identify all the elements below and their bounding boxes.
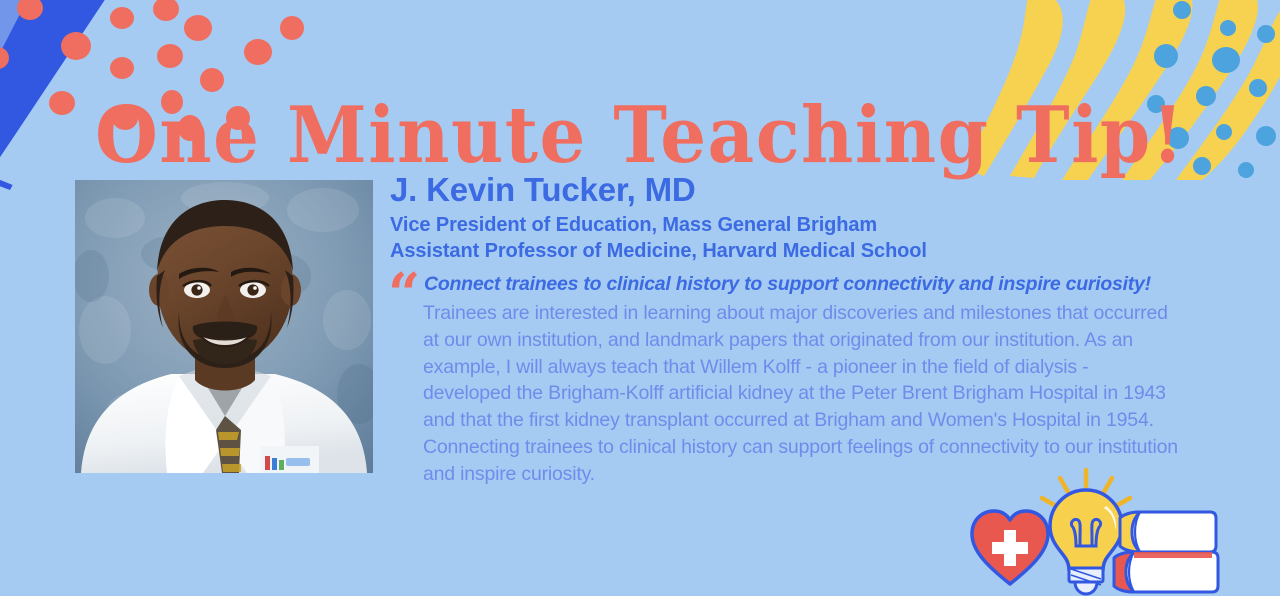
icon-cluster — [962, 468, 1222, 596]
quote-body: Trainees are interested in learning abou… — [423, 300, 1178, 488]
open-quote-icon: “ — [388, 266, 420, 322]
teaching-tip-poster: One Minute Teaching Tip! — [0, 0, 1280, 596]
stacked-books-icon — [1110, 502, 1222, 594]
quote-block: “ Connect trainees to clinical history t… — [388, 272, 1178, 488]
speaker-role-2: Assistant Professor of Medicine, Harvard… — [390, 239, 1190, 265]
quote-headline: Connect trainees to clinical history to … — [424, 272, 1178, 298]
speaker-info: J. Kevin Tucker, MD Vice President of Ed… — [390, 172, 1190, 264]
speaker-role-1: Vice President of Education, Mass Genera… — [390, 213, 1190, 239]
speaker-name: J. Kevin Tucker, MD — [390, 172, 1190, 209]
speaker-roles: Vice President of Education, Mass Genera… — [390, 213, 1190, 264]
speaker-photo — [75, 180, 373, 473]
page-title: One Minute Teaching Tip! — [95, 96, 1185, 174]
quote-body-text: Trainees are interested in learning abou… — [423, 300, 1178, 488]
speaker-photo-image — [75, 180, 373, 473]
